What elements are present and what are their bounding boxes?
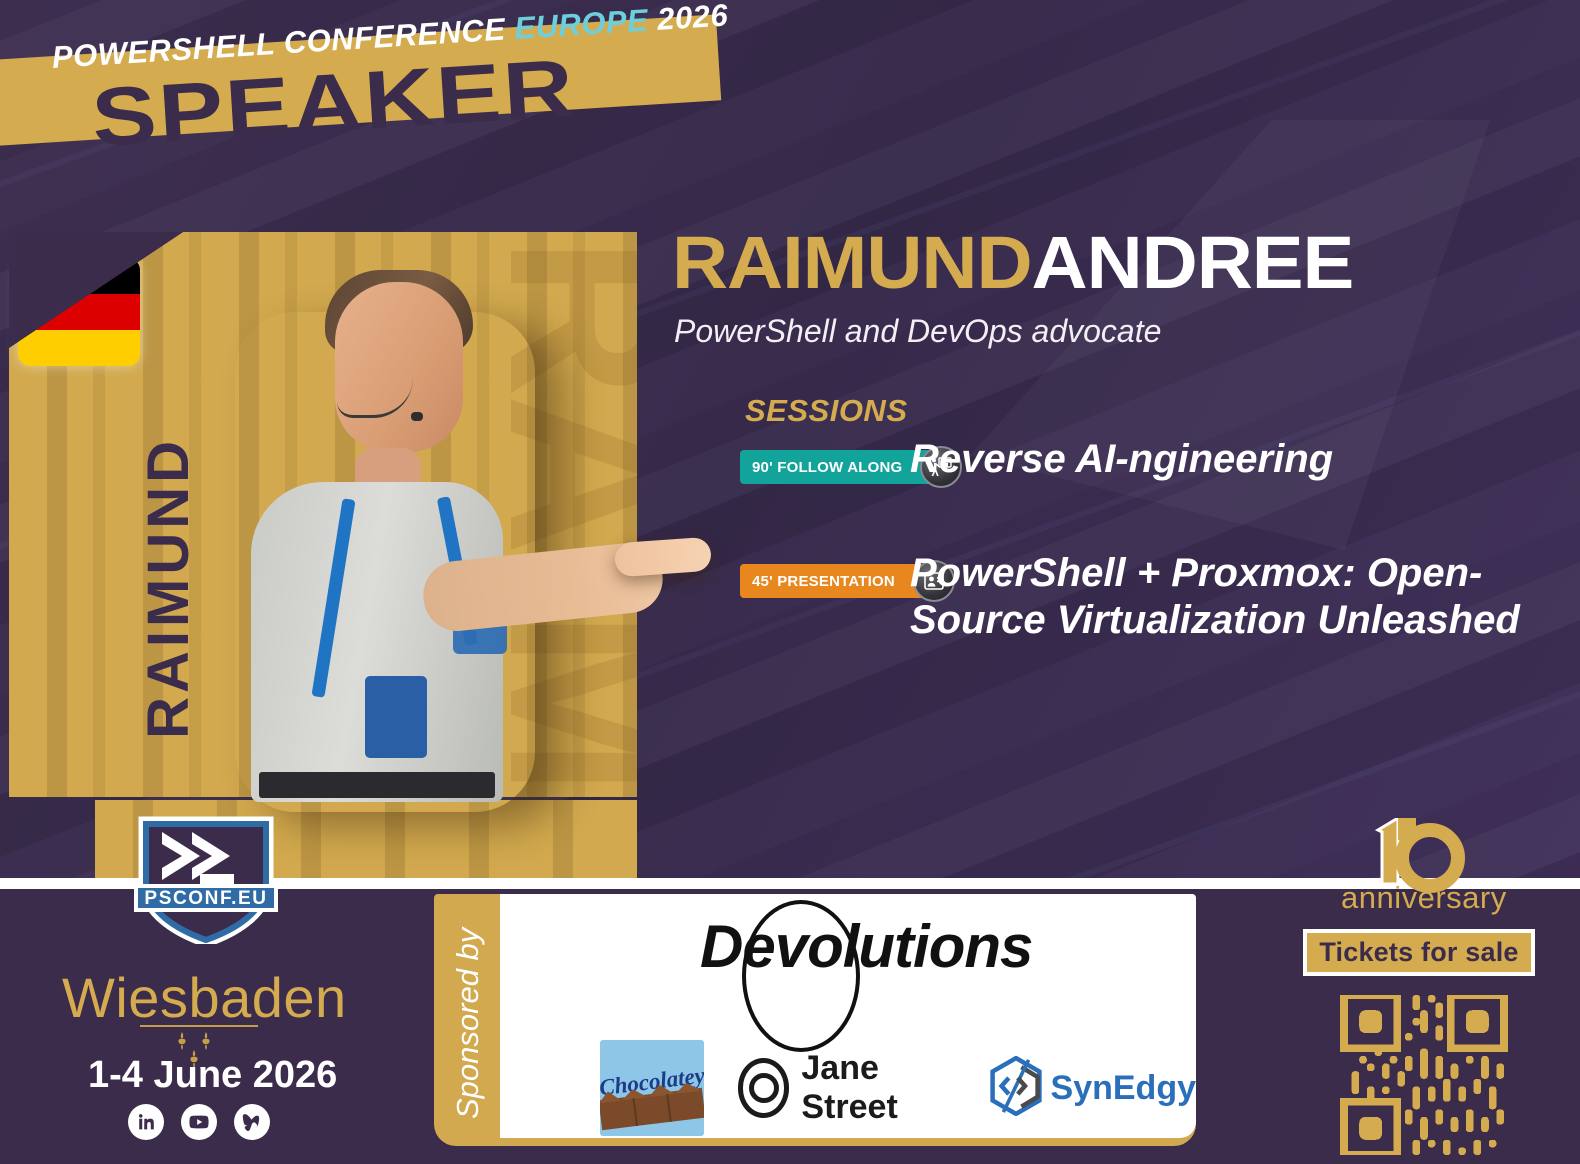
chocolatey-logo: Chocolatey bbox=[600, 1040, 704, 1136]
session-1-title: Reverse AI-ngineering bbox=[910, 436, 1570, 483]
devolutions-ring-icon bbox=[742, 900, 860, 1052]
tickets-banner[interactable]: Tickets for sale bbox=[1303, 929, 1535, 976]
kicker-year: 2026 bbox=[647, 0, 729, 37]
svg-text:th: th bbox=[1425, 879, 1439, 896]
linkedin-icon[interactable] bbox=[128, 1104, 164, 1140]
youtube-icon[interactable] bbox=[181, 1104, 217, 1140]
sponsors-white-area: Devolutions Chocolatey Jane Street bbox=[500, 894, 1196, 1138]
tickets-label[interactable]: Tickets for sale bbox=[1307, 933, 1531, 972]
jane-street-mark-icon bbox=[738, 1058, 790, 1118]
session-2-title: PowerShell + Proxmox: Open-Source Virtua… bbox=[910, 550, 1550, 644]
kicker-europe: EUROPE bbox=[513, 3, 649, 46]
speaker-first-name: RAIMUND bbox=[672, 221, 1032, 304]
svg-text:PSCONF.EU: PSCONF.EU bbox=[144, 888, 267, 909]
bluesky-icon[interactable] bbox=[234, 1104, 270, 1140]
synedgy-mark-icon bbox=[989, 1056, 1043, 1121]
city-name: Wiesbaden bbox=[62, 965, 347, 1030]
psconf-shield-logo: PSCONF.EU bbox=[126, 812, 286, 944]
speaker-last-name: ANDREE bbox=[1032, 221, 1354, 304]
speaker-name: RAIMUNDANDREE bbox=[672, 220, 1353, 305]
jane-street-wordmark: Jane Street bbox=[801, 1049, 954, 1127]
qr-code[interactable] bbox=[1340, 995, 1508, 1155]
social-links bbox=[128, 1104, 270, 1140]
devolutions-logo: Devolutions bbox=[700, 912, 1032, 981]
sponsors-panel: Sponsored by Devolutions Chocolatey Jane… bbox=[434, 894, 1196, 1146]
session-2-badge-label: 45' PRESENTATION bbox=[752, 573, 895, 590]
session-1-badge-label: 90' FOLLOW ALONG bbox=[752, 459, 902, 476]
jane-street-logo: Jane Street bbox=[738, 1049, 955, 1127]
speaker-photo bbox=[215, 252, 635, 797]
city-underline bbox=[140, 1025, 258, 1027]
anniversary-number-logo: th bbox=[1368, 818, 1474, 901]
vertical-first-name: RAIMUND bbox=[135, 437, 202, 739]
conference-dates: 1-4 June 2026 bbox=[88, 1054, 337, 1097]
sponsored-by-label: Sponsored by bbox=[440, 918, 496, 1128]
synedgy-wordmark: SynEdgy bbox=[1051, 1069, 1196, 1108]
synedgy-logo: SynEdgy bbox=[989, 1056, 1196, 1121]
sponsor-logo-row: Chocolatey Jane Street bbox=[600, 1040, 1196, 1136]
speaker-tagline: PowerShell and DevOps advocate bbox=[674, 313, 1161, 350]
sessions-heading: SESSIONS bbox=[745, 393, 908, 429]
speaker-announcement-poster: POWERSHELL CONFERENCE EUROPE 2026 SPEAKE… bbox=[0, 0, 1580, 1164]
